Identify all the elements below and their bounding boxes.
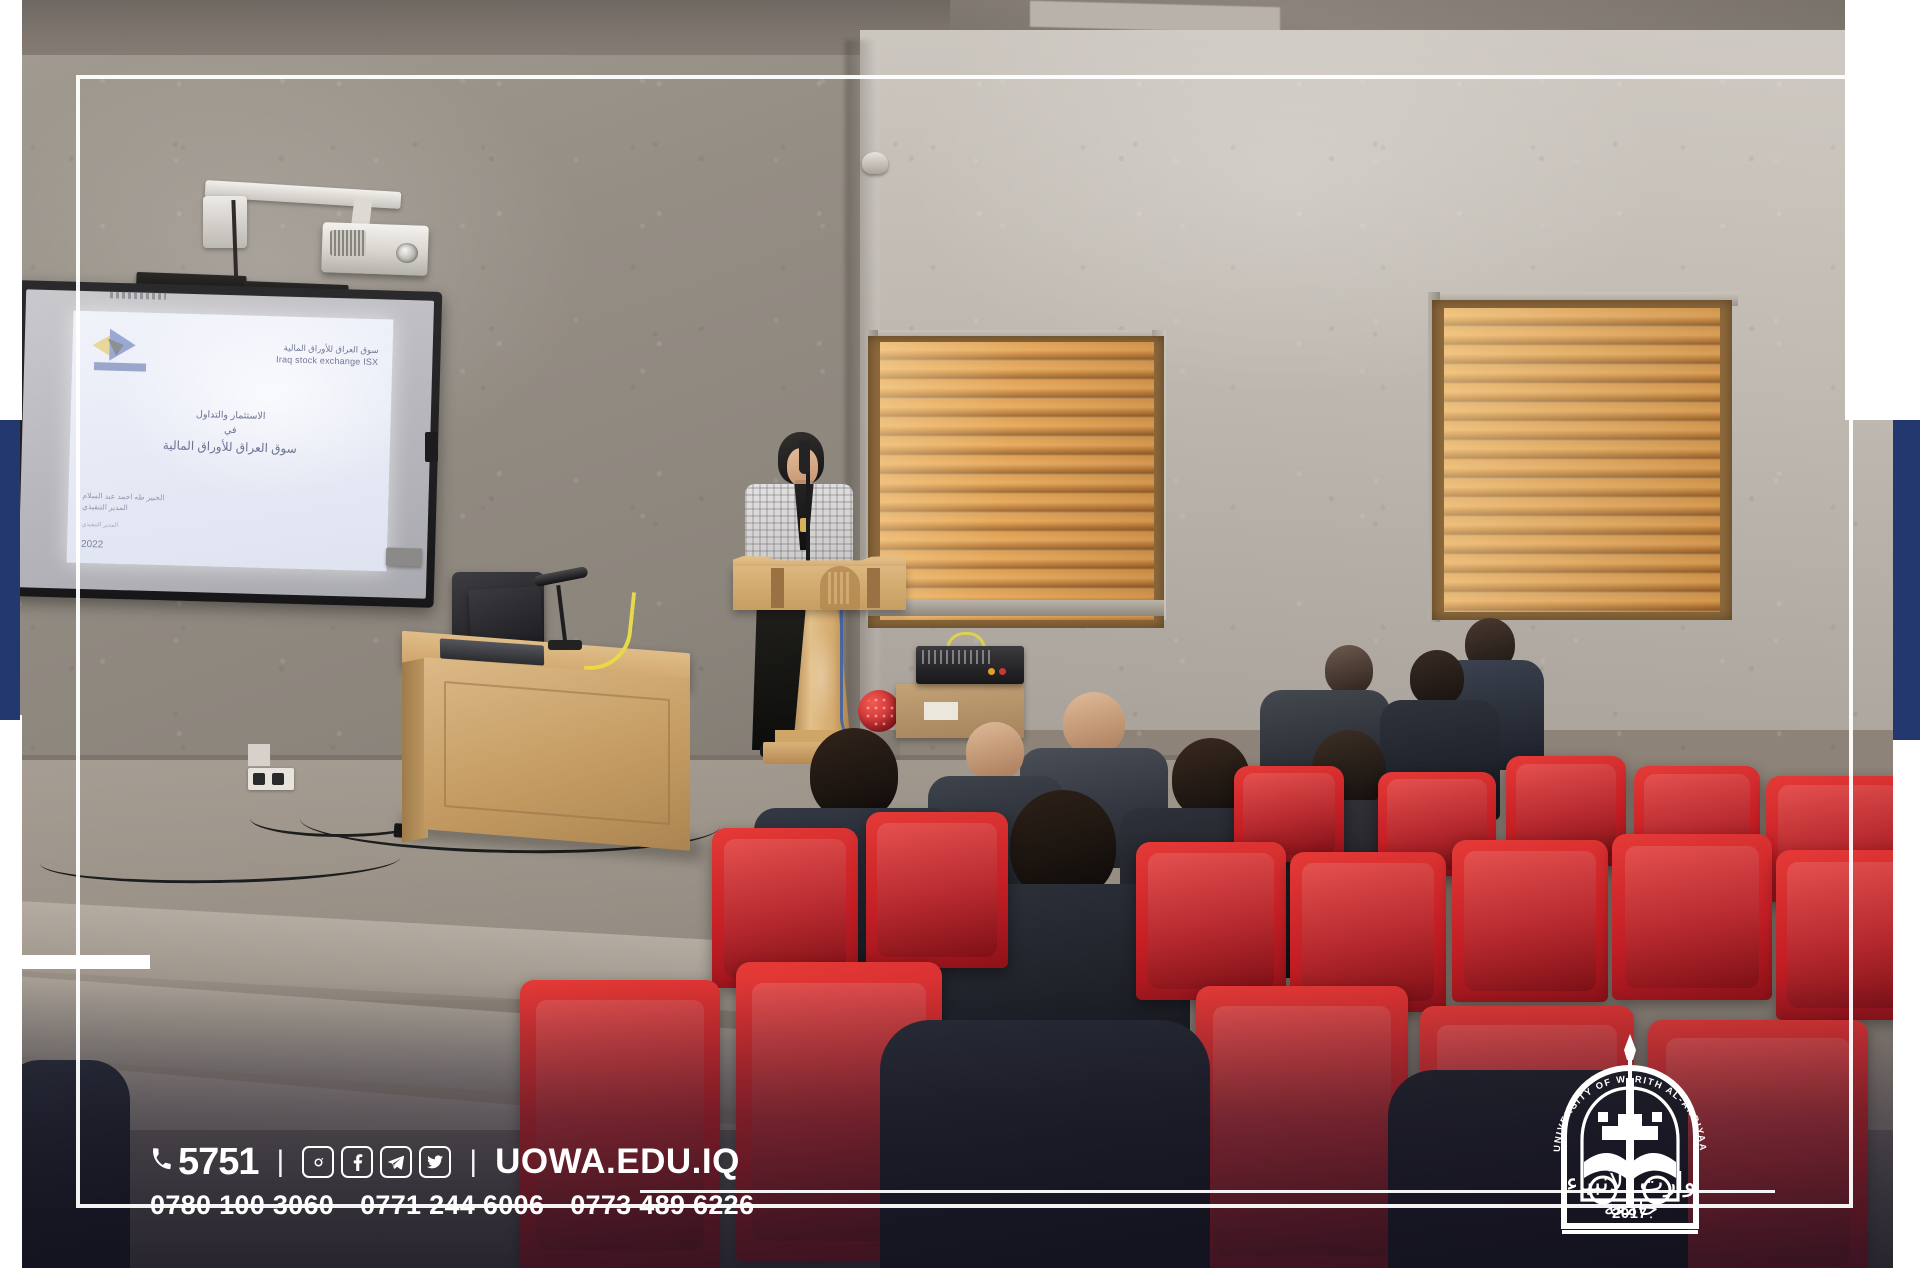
audience-head	[966, 722, 1024, 780]
twitter-icon[interactable]	[419, 1146, 451, 1178]
mixer-button-red	[999, 668, 1006, 675]
footer-contact-bar: 5751 | | UOWA.EDU	[150, 1140, 754, 1221]
slide-title-block: الاستثمار والتداول في سوق العراق للأوراق…	[70, 405, 391, 462]
audience-seat	[1136, 842, 1286, 1000]
frame-margin-bottom-right	[1893, 736, 1920, 1280]
podium-mic-stand	[806, 470, 810, 562]
slide-org-header: سوق العراق للأوراق المالية Iraq stock ex…	[276, 342, 379, 368]
navy-accent-left	[0, 420, 20, 720]
logo-shield-icon: UNIVERSITY OF WARITH AL-ANBIYAA	[1540, 1030, 1720, 1262]
mixer-button-orange	[988, 668, 995, 675]
window-sill	[868, 600, 1164, 616]
footer-phone-2: 0771 244 6006	[360, 1190, 544, 1221]
audience-seat	[520, 980, 720, 1268]
footer-social-links	[302, 1146, 451, 1178]
footer-website[interactable]: UOWA.EDU.IQ	[495, 1142, 740, 1182]
podium-inlay-right	[867, 568, 880, 608]
screenshot-root: سوق العراق للأوراق المالية Iraq stock ex…	[0, 0, 1920, 1280]
power-socket	[248, 768, 294, 790]
audience-seat	[1776, 850, 1907, 1020]
window-sunlight	[880, 342, 1154, 620]
slide-footnote: المدير التنفيذي	[81, 521, 262, 560]
slide-speaker-block: الخبير طه احمد عبد السلام المدير التنفيذ…	[81, 491, 263, 560]
slide-year: 2022	[81, 539, 104, 551]
handset-icon	[149, 1147, 174, 1177]
logo-arabic-main: وارث الأنبياء	[1558, 1170, 1704, 1196]
audience-seat	[1196, 986, 1408, 1268]
frame-notch-left	[0, 955, 150, 969]
footer-separator-2: |	[465, 1145, 481, 1179]
podium-inlay-left	[771, 568, 784, 608]
podium-microphone-icon	[799, 440, 810, 474]
footer-separator-1: |	[273, 1145, 289, 1179]
footer-hotline-number: 5751	[178, 1141, 259, 1184]
footer-phone-numbers: 0780 100 3060 0771 244 6006 0773 489 622…	[150, 1190, 754, 1221]
frame-margin-top-left	[0, 0, 22, 420]
window2-sunlight	[1444, 308, 1720, 612]
mixer-knobs	[922, 650, 992, 664]
desk-inset-panel	[444, 681, 670, 825]
podium-column-highlight	[806, 630, 838, 720]
smoke-detector-icon	[862, 152, 888, 174]
microphone-base	[548, 640, 582, 650]
facebook-icon[interactable]	[341, 1146, 373, 1178]
instagram-icon[interactable]	[302, 1146, 334, 1178]
frame-margin-bottom	[0, 1268, 1920, 1280]
audience-head	[810, 728, 898, 820]
window-right	[1432, 300, 1732, 620]
audience-head	[1410, 650, 1464, 706]
footer-phone-1: 0780 100 3060	[150, 1190, 334, 1221]
podium-crest-icon	[820, 566, 860, 610]
box-label	[924, 702, 958, 720]
university-logo: UNIVERSITY OF WARITH AL-ANBIYAA وارث الأ…	[1540, 1030, 1720, 1262]
window-left	[868, 336, 1164, 628]
footer-primary-row: 5751 | | UOWA.EDU	[150, 1140, 754, 1184]
footer-hotline: 5751	[150, 1141, 259, 1184]
audience-seat	[1612, 834, 1772, 1000]
audience-head	[1063, 692, 1125, 754]
projector-vent	[330, 230, 366, 256]
footer-phone-3: 0773 489 6226	[570, 1190, 754, 1221]
wall-plate	[248, 744, 270, 766]
projector-lens-icon	[396, 243, 418, 263]
slide-org-english: Iraq stock exchange ISX	[276, 354, 378, 369]
whiteboard-side-knob	[425, 432, 438, 462]
audience-body	[880, 1020, 1210, 1268]
navy-accent-right	[1893, 420, 1920, 740]
audience-seat	[866, 812, 1008, 968]
projected-slide: سوق العراق للأوراق المالية Iraq stock ex…	[67, 311, 394, 572]
audience-head	[1325, 645, 1373, 695]
projector-wall-bracket	[203, 196, 247, 248]
logo-founded-year: 2017	[1612, 1205, 1647, 1222]
frame-margin-top-right	[1845, 0, 1920, 420]
isx-logo-icon	[92, 326, 151, 372]
telegram-icon[interactable]	[380, 1146, 412, 1178]
red-ball	[858, 690, 900, 732]
whiteboard-pen-tray	[386, 548, 422, 567]
frame-margin-bottom-left	[0, 715, 22, 1280]
audience-seat	[1452, 840, 1608, 1002]
